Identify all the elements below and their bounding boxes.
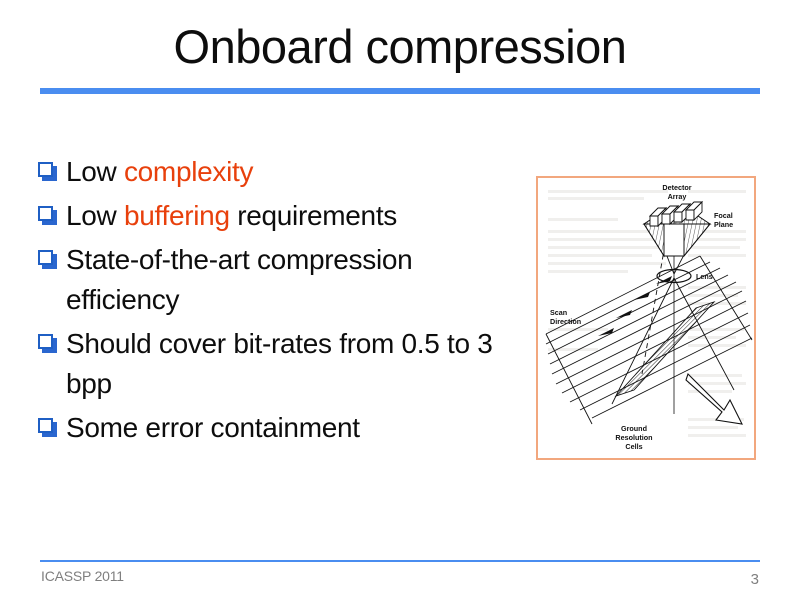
ground-track-arrow xyxy=(686,374,742,424)
label-ground-cells-line3: Cells xyxy=(625,442,642,451)
list-item-highlight: buffering xyxy=(124,200,230,231)
list-item-text: Should cover bit-rates from 0.5 to 3 bpp xyxy=(66,324,518,404)
scan-direction-arrowheads xyxy=(598,276,672,336)
bullet-marker xyxy=(38,240,66,269)
list-item[interactable]: State-of-the-art compression efficiency xyxy=(38,240,518,320)
hollow-square-bullet-icon xyxy=(38,418,57,437)
list-item-text: Low complexity xyxy=(66,152,518,192)
bullet-marker xyxy=(38,324,66,353)
footer-divider xyxy=(40,560,760,562)
bullet-marker xyxy=(38,196,66,225)
label-focal-plane-line2: Plane xyxy=(714,220,733,229)
bullet-list: Low complexity Low buffering requirement… xyxy=(38,152,518,452)
label-detector-array-line2: Array xyxy=(668,192,687,201)
list-item-text: State-of-the-art compression efficiency xyxy=(66,240,518,320)
label-focal-plane-line1: Focal xyxy=(714,211,733,220)
page-title: Onboard compression xyxy=(40,18,760,76)
list-item-text: Low buffering requirements xyxy=(66,196,518,236)
hollow-square-bullet-icon xyxy=(38,334,57,353)
title-divider xyxy=(40,88,760,94)
list-item-highlight: complexity xyxy=(124,156,253,187)
list-item-segment: Low xyxy=(66,156,124,187)
list-item[interactable]: Should cover bit-rates from 0.5 to 3 bpp xyxy=(38,324,518,404)
list-item-segment: Low xyxy=(66,200,124,231)
scanner-diagram-figure: Detector Array Focal Plane Lens Scan Dir… xyxy=(536,176,756,460)
slide-canvas: Onboard compression Low complexity Low b… xyxy=(0,0,800,599)
list-item[interactable]: Some error containment xyxy=(38,408,518,448)
label-lens: Lens xyxy=(696,272,713,281)
hollow-square-bullet-icon xyxy=(38,250,57,269)
bullet-marker xyxy=(38,408,66,437)
bullet-marker xyxy=(38,152,66,181)
list-item-text: Some error containment xyxy=(66,408,518,448)
label-scan-direction-line2: Direction xyxy=(550,317,581,326)
scanner-diagram-svg: Detector Array Focal Plane Lens Scan Dir… xyxy=(538,178,754,458)
label-scan-direction-line1: Scan xyxy=(550,308,567,317)
list-item[interactable]: Low buffering requirements xyxy=(38,196,518,236)
hollow-square-bullet-icon xyxy=(38,162,57,181)
footer-conference-label: ICASSP 2011 xyxy=(41,566,124,586)
list-item[interactable]: Low complexity xyxy=(38,152,518,192)
label-detector-array-line1: Detector xyxy=(662,183,691,192)
label-ground-cells-line1: Ground xyxy=(621,424,647,433)
list-item-segment: requirements xyxy=(230,200,397,231)
slide-page-number: 3 xyxy=(751,570,759,590)
hollow-square-bullet-icon xyxy=(38,206,57,225)
label-ground-cells-line2: Resolution xyxy=(615,433,652,442)
